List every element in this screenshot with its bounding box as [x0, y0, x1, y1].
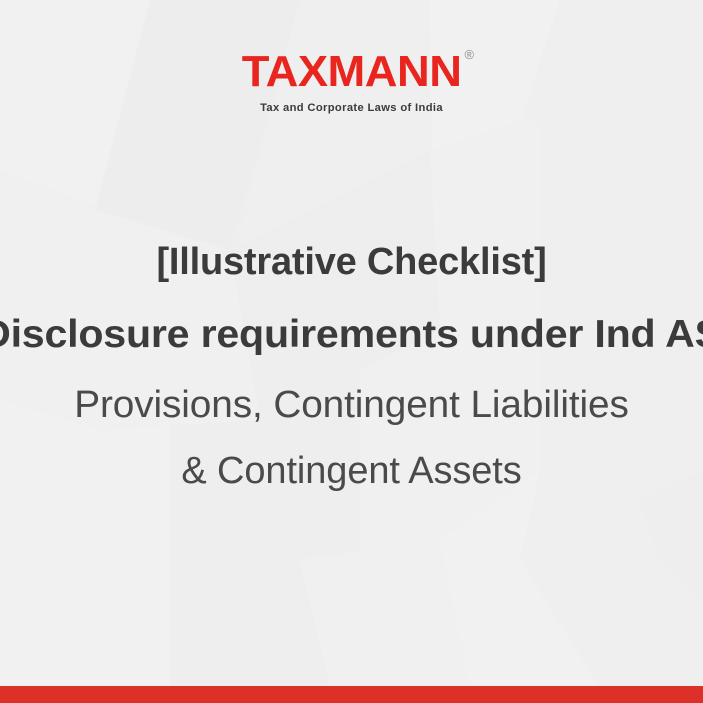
headline-line-1: [Illustrative Checklist]: [0, 243, 703, 281]
footer-accent-bar: [0, 686, 703, 703]
headline-line-4: & Contingent Assets: [0, 452, 703, 490]
logo-mark: TAXMANN ®: [245, 50, 458, 95]
registered-trademark-icon: ®: [465, 48, 475, 61]
poster-canvas: TAXMANN ® Tax and Corporate Laws of Indi…: [0, 0, 703, 703]
headline-block: [Illustrative Checklist] Disclosure requ…: [0, 243, 703, 490]
logo-tagline: Tax and Corporate Laws of India: [0, 102, 703, 114]
logo-wordmark: TAXMANN: [242, 50, 462, 95]
headline-line-2: Disclosure requirements under Ind AS: [0, 315, 703, 354]
headline-line-3: Provisions, Contingent Liabilities: [0, 386, 703, 424]
brand-logo: TAXMANN ® Tax and Corporate Laws of Indi…: [0, 50, 703, 114]
